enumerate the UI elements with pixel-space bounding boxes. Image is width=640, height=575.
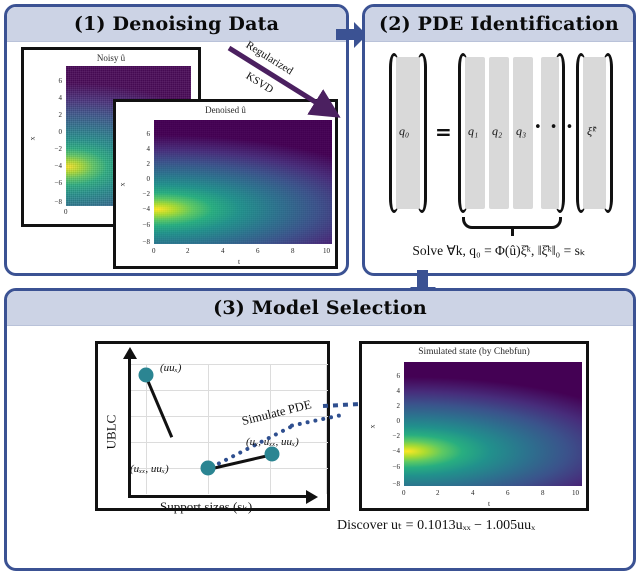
- denoised-xtick-0: 0: [152, 247, 156, 255]
- ublc-y-axis-arrowhead: [123, 347, 137, 359]
- simulated-heatmap: [404, 362, 582, 486]
- panel-denoising-header: (1) Denoising Data: [7, 7, 346, 42]
- panel-pde-title: (2) PDE Identification: [379, 13, 619, 35]
- matrix-column-label-3: q₃: [516, 124, 526, 139]
- denoised-ytick-7: −8: [132, 238, 150, 246]
- simulated-ytick-7: −8: [382, 480, 400, 488]
- denoised-ytick-2: 2: [134, 160, 150, 168]
- equals-sign: =: [435, 120, 452, 144]
- matrix-brace-tick: [511, 228, 514, 236]
- matrix-column-label-2: q₂: [492, 124, 502, 139]
- panel-model-selection-title: (3) Model Selection: [213, 297, 427, 319]
- noisy-ytick-5: −4: [44, 162, 62, 170]
- denoised-xtick-4: 8: [291, 247, 295, 255]
- denoised-heatmap: [154, 120, 332, 244]
- noisy-ytick-0: 6: [46, 77, 62, 85]
- simulated-xtick-5: 10: [572, 489, 579, 497]
- data-point-2: [201, 461, 216, 476]
- discover-equation: Discover uₜ = 0.1013uₓₓ − 1.005uuₓ: [337, 517, 535, 534]
- simulated-xtick-4: 8: [541, 489, 545, 497]
- panel-denoising-title: (1) Denoising Data: [74, 13, 279, 35]
- denoised-xtick-2: 4: [221, 247, 225, 255]
- simulated-plot-axes: [404, 362, 582, 486]
- denoised-plot-axes: [154, 120, 332, 244]
- denoised-xtick-3: 6: [256, 247, 260, 255]
- simulated-plot-title: Simulated state (by Chebfun): [362, 347, 586, 357]
- rhs-vector-label: ξ̂ᵏ: [587, 124, 596, 139]
- noisy-ytick-6: −6: [44, 179, 62, 187]
- simulated-xlabel: t: [488, 499, 490, 508]
- simulated-ytick-0: 6: [384, 372, 400, 380]
- ublc-chart-card: (uuₓ) (uₓₓ, uuₓ) (uₓ, uₓₓ, uuₓ) Simulate…: [95, 341, 330, 511]
- noisy-ytick-3: 0: [46, 128, 62, 136]
- denoised-plot-card: Denoised û 6 4 2 0 −2 −4 −6 −8 0 2 4 6 8…: [113, 99, 338, 269]
- simulated-ylabel: x: [367, 425, 376, 429]
- panel-model-selection-header: (3) Model Selection: [7, 291, 633, 326]
- pde-equation: Solve ∀k, q₀ = Φ(û)ξ̂ᵏ, ‖ξ̂ᵏ‖₀ = sₖ: [365, 243, 633, 259]
- ublc-x-axis-arrowhead: [306, 490, 318, 504]
- noisy-ytick-7: −8: [44, 198, 62, 206]
- matrix-ellipsis: • • •: [534, 120, 575, 135]
- denoised-ytick-3: 0: [134, 175, 150, 183]
- simulated-xtick-2: 4: [471, 489, 475, 497]
- noisy-ytick-2: 2: [46, 111, 62, 119]
- denoised-ytick-6: −6: [132, 221, 150, 229]
- denoised-ytick-1: 4: [134, 145, 150, 153]
- panel-denoising-data: (1) Denoising Data Noisy û 6 4 2 0 −2 −4…: [4, 4, 349, 276]
- data-point-label-1: (uuₓ): [160, 362, 181, 374]
- panel-pde-header: (2) PDE Identification: [365, 7, 633, 42]
- denoised-xtick-5: 10: [323, 247, 330, 255]
- simulated-ytick-4: −2: [382, 432, 400, 440]
- panel-model-selection: (3) Model Selection (uuₓ): [4, 288, 636, 571]
- ublc-y-axis-label: UBLC: [103, 415, 119, 450]
- noisy-plot-title: Noisy û: [24, 53, 198, 63]
- data-point-1: [139, 368, 154, 383]
- ksvd-arrow-label-line2: KSVD: [244, 70, 276, 96]
- denoised-ylabel: x: [117, 183, 126, 187]
- denoised-xlabel: t: [238, 257, 240, 266]
- denoised-ytick-5: −4: [132, 205, 150, 213]
- ublc-x-axis-label: Support sizes (sₖ): [160, 499, 252, 515]
- data-point-3: [265, 447, 280, 462]
- simulated-ytick-1: 4: [384, 387, 400, 395]
- simulated-plot-card: Simulated state (by Chebfun) 6 4 2 0 −2 …: [359, 341, 589, 511]
- simulated-xtick-3: 6: [506, 489, 510, 497]
- simulated-ytick-5: −4: [382, 447, 400, 455]
- panel-pde-identification: (2) PDE Identification q₀ = q₁ q₂ q₃ • •…: [362, 4, 636, 276]
- denoised-ytick-0: 6: [134, 130, 150, 138]
- simulated-xtick-0: 0: [402, 489, 406, 497]
- ublc-x-axis: [128, 495, 308, 498]
- noisy-ytick-1: 4: [46, 94, 62, 102]
- denoised-xtick-1: 2: [186, 247, 190, 255]
- data-point-label-3: (uₓ, uₓₓ, uuₓ): [246, 436, 299, 448]
- ublc-y-axis: [128, 358, 131, 498]
- matrix-column-label-1: q₁: [468, 124, 478, 139]
- noisy-ytick-4: −2: [44, 145, 62, 153]
- simulated-ytick-6: −6: [382, 463, 400, 471]
- noisy-xtick-0: 0: [64, 208, 68, 216]
- noisy-ylabel: x: [27, 137, 36, 141]
- lhs-vector-label: q₀: [399, 124, 409, 139]
- simulated-xtick-1: 2: [436, 489, 440, 497]
- denoised-ytick-4: −2: [132, 190, 150, 198]
- simulated-ytick-2: 2: [384, 402, 400, 410]
- data-point-label-2: (uₓₓ, uuₓ): [130, 463, 169, 475]
- denoised-plot-title: Denoised û: [116, 105, 335, 115]
- simulated-ytick-3: 0: [384, 417, 400, 425]
